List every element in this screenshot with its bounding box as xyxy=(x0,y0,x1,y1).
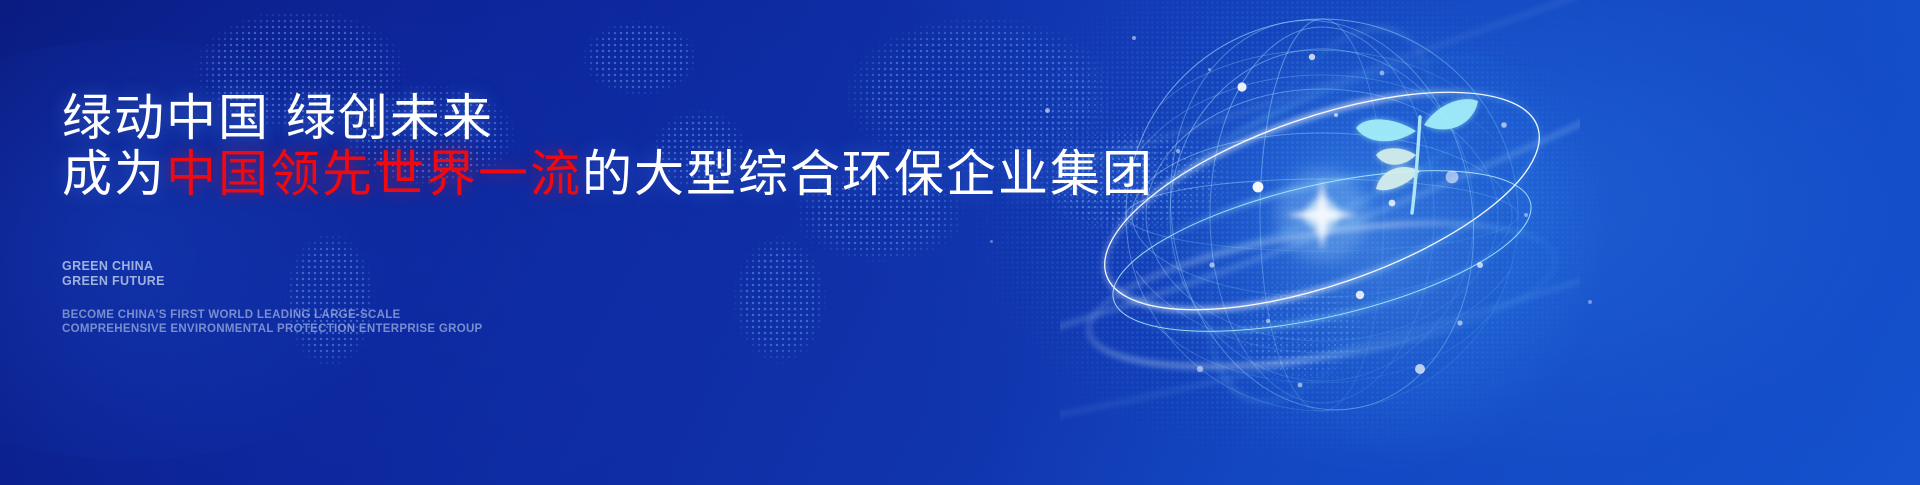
english-subtitle-line-1: BECOME CHINA'S FIRST WORLD LEADING LARGE… xyxy=(62,309,483,323)
english-slogan-line-1: GREEN CHINA xyxy=(62,259,165,274)
headline-secondary-prefix: 成为 xyxy=(62,146,166,202)
english-slogan: GREEN CHINA GREEN FUTURE xyxy=(62,259,165,288)
wireframe-globe xyxy=(1060,0,1580,485)
dotted-hex-field xyxy=(0,0,1920,485)
headline-secondary: 成为中国领先世界一流的大型综合环保企业集团 xyxy=(62,134,1154,206)
english-subtitle: BECOME CHINA'S FIRST WORLD LEADING LARGE… xyxy=(62,309,483,336)
english-subtitle-line-2: COMPREHENSIVE ENVIRONMENTAL PROTECTION E… xyxy=(62,323,483,337)
headline-secondary-highlight: 中国领先世界一流 xyxy=(166,146,582,202)
hero-banner: 绿动中国 绿创未来 成为中国领先世界一流的大型综合环保企业集团 GREEN CH… xyxy=(0,0,1920,485)
globe-core-glow xyxy=(1276,169,1368,261)
english-slogan-line-2: GREEN FUTURE xyxy=(62,274,165,289)
headline-secondary-suffix: 的大型综合环保企业集团 xyxy=(582,146,1154,202)
